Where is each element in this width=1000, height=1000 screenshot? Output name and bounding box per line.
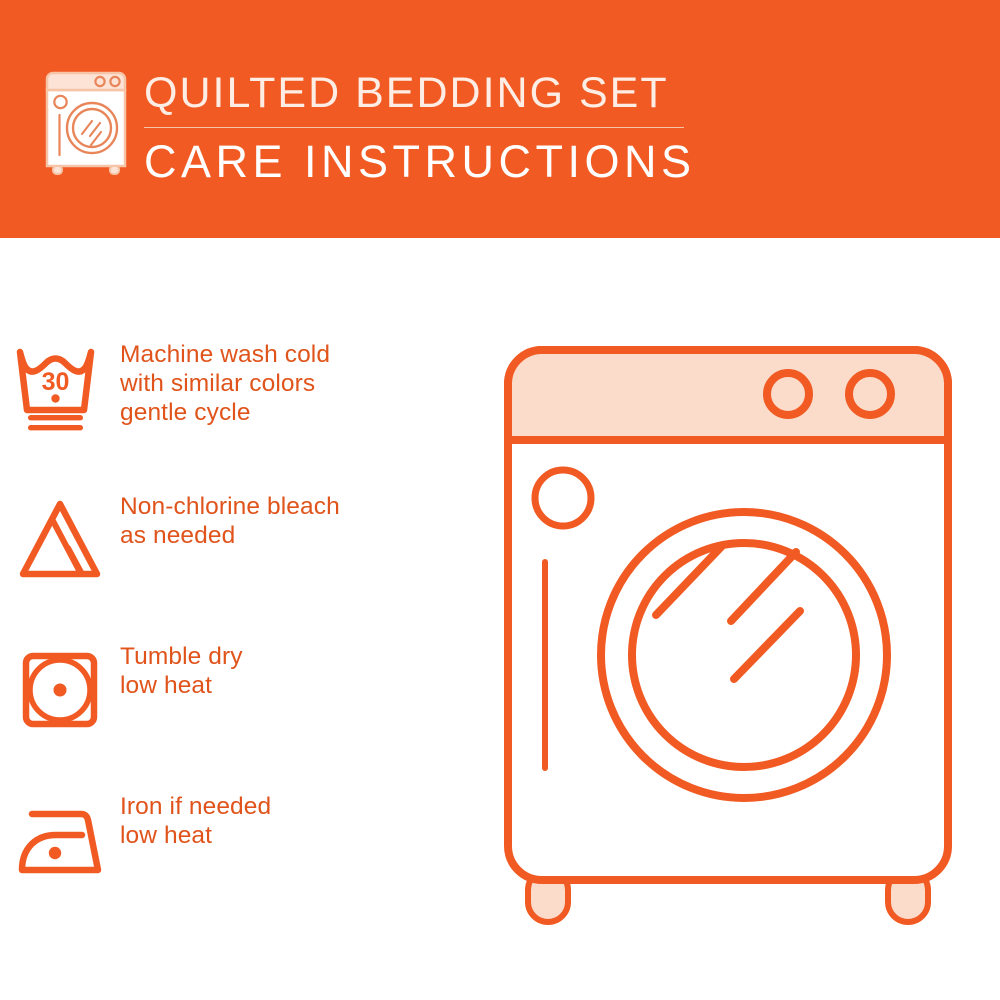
wash-temperature-value: 30 (42, 368, 70, 396)
care-item-iron-text: Iron if needed low heat (120, 790, 480, 850)
care-text-line: as needed (120, 521, 480, 550)
header-banner: QUILTED BEDDING SET CARE INSTRUCTIONS (0, 0, 1000, 238)
care-text-line: Tumble dry (120, 642, 480, 671)
page-title: QUILTED BEDDING SET (144, 68, 764, 118)
page-subtitle: CARE INSTRUCTIONS (144, 136, 764, 188)
washing-machine-illustration (488, 330, 988, 930)
care-text-line: low heat (120, 821, 480, 850)
care-instructions-list: 30 Machine wash cold with similar colors… (0, 238, 480, 1000)
care-text-line: with similar colors (120, 369, 480, 398)
washing-machine-icon (38, 66, 134, 176)
tumble-dry-low-heat-icon (0, 640, 120, 736)
header-title-block: QUILTED BEDDING SET CARE INSTRUCTIONS (144, 68, 764, 188)
machine-wash-30-gentle-icon: 30 (0, 338, 120, 434)
care-item-machine-wash: 30 Machine wash cold with similar colors… (0, 338, 480, 434)
iron-low-heat-icon (0, 790, 120, 886)
care-text-line: Non-chlorine bleach (120, 492, 480, 521)
care-text-line: Iron if needed (120, 792, 480, 821)
care-text-line: low heat (120, 671, 480, 700)
title-divider (144, 127, 684, 128)
care-item-iron: Iron if needed low heat (0, 790, 480, 886)
non-chlorine-bleach-icon (0, 490, 120, 586)
care-item-tumble-dry-text: Tumble dry low heat (120, 640, 480, 700)
care-text-line: Machine wash cold (120, 340, 480, 369)
care-item-tumble-dry: Tumble dry low heat (0, 640, 480, 736)
care-item-machine-wash-text: Machine wash cold with similar colors ge… (120, 338, 480, 427)
care-instructions-page: QUILTED BEDDING SET CARE INSTRUCTIONS 30 (0, 0, 1000, 1000)
care-item-bleach: Non-chlorine bleach as needed (0, 490, 480, 586)
care-item-bleach-text: Non-chlorine bleach as needed (120, 490, 480, 550)
care-text-line: gentle cycle (120, 398, 480, 427)
